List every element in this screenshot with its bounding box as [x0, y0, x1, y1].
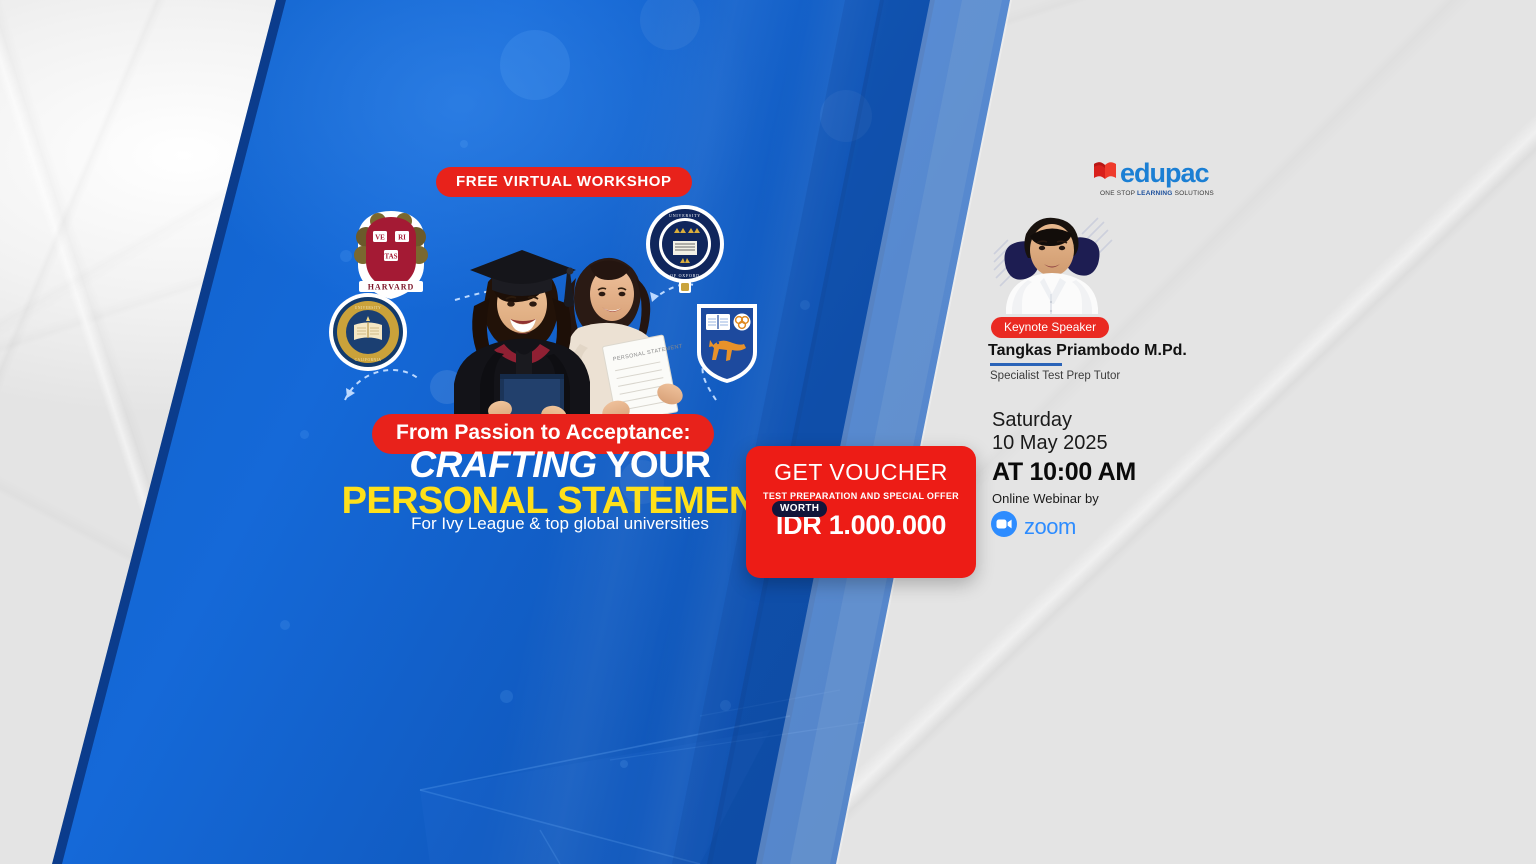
event-date: 10 May 2025: [992, 432, 1108, 455]
speaker-underline: [990, 363, 1062, 366]
svg-text:RI: RI: [398, 234, 406, 242]
graduates-photo: PERSONAL STATEMENT: [430, 198, 690, 428]
edupac-logo: edupac ONE STOP LEARNING SOLUTIONS: [1092, 158, 1222, 197]
bokeh-dot: [280, 620, 290, 630]
tagline-post: SOLUTIONS: [1173, 190, 1214, 197]
svg-text:TAS: TAS: [384, 253, 397, 261]
zoom-logo: zoom: [990, 510, 1076, 543]
keynote-speaker-badge: Keynote Speaker: [991, 317, 1109, 338]
harvard-crest: VE RI TAS HARVARD: [348, 207, 434, 303]
voucher-subtitle: TEST PREPARATION AND SPECIAL OFFER: [746, 491, 976, 501]
platform-label: Online Webinar by: [992, 491, 1099, 506]
speaker-photo: [988, 202, 1116, 314]
book-icon: [1092, 158, 1118, 187]
event-day: Saturday: [992, 409, 1072, 432]
svg-text:CALIFORNIA: CALIFORNIA: [355, 358, 382, 362]
logo-tagline: ONE STOP LEARNING SOLUTIONS: [1092, 190, 1222, 197]
bokeh-dot: [820, 90, 872, 142]
svg-text:HARVARD: HARVARD: [368, 283, 415, 292]
bokeh-dot: [460, 140, 468, 148]
bokeh-dot: [800, 300, 810, 310]
headline-crafting: CRAFTING: [409, 444, 596, 485]
headline-subtitle: For Ivy League & top global universities: [330, 514, 790, 534]
berkeley-seal: UNIVERSITY CALIFORNIA: [328, 292, 408, 372]
speaker-name: Tangkas Priambodo M.Pd.: [988, 342, 1187, 360]
zoom-wordmark: zoom: [1024, 514, 1076, 540]
bokeh-dot: [620, 760, 628, 768]
nus-shield: [692, 300, 762, 386]
zoom-camera-icon: [990, 510, 1018, 543]
event-time: AT 10:00 AM: [992, 458, 1136, 487]
logo-wordmark: edupac: [1120, 161, 1209, 187]
speaker-role: Specialist Test Prep Tutor: [990, 370, 1120, 382]
tagline-bold: LEARNING: [1137, 190, 1173, 197]
logo-row: edupac: [1092, 158, 1222, 187]
headline-your: YOUR: [597, 444, 711, 485]
bokeh-dot: [300, 430, 309, 439]
voucher-amount-wrap: WORTH IDR 1.000.000: [746, 510, 976, 541]
worth-badge: WORTH: [772, 501, 827, 517]
svg-text:VE: VE: [375, 234, 385, 242]
tagline-pre: ONE STOP: [1100, 190, 1137, 197]
voucher-title: GET VOUCHER: [746, 446, 976, 486]
free-workshop-badge: FREE VIRTUAL WORKSHOP: [436, 167, 692, 197]
bokeh-dot: [500, 30, 570, 100]
voucher-card[interactable]: GET VOUCHER TEST PREPARATION AND SPECIAL…: [746, 446, 976, 578]
bokeh-dot: [720, 700, 731, 711]
bokeh-dot: [500, 690, 513, 703]
svg-text:UNIVERSITY: UNIVERSITY: [355, 306, 382, 310]
